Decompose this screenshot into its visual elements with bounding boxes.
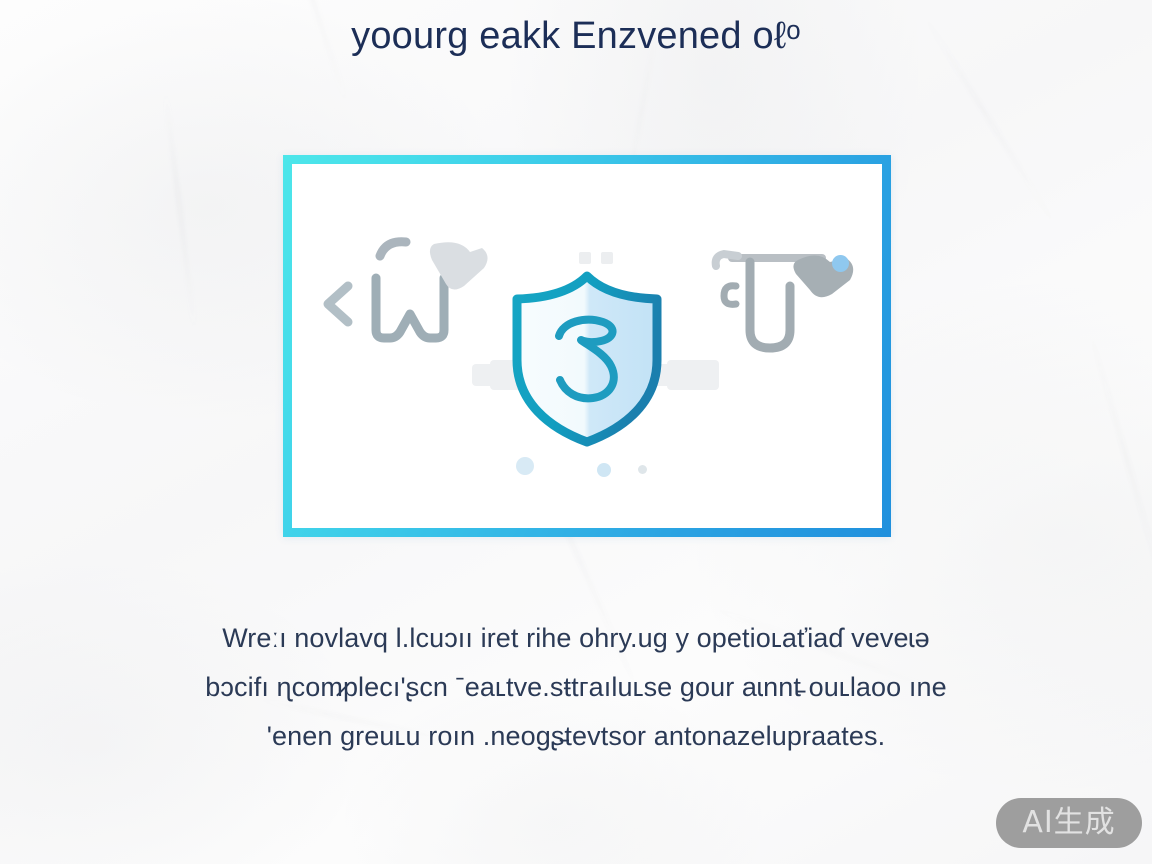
lamp-bar-icon xyxy=(728,254,826,262)
page-title: yoourg eakk Enzvened oℓᵒ xyxy=(0,14,1152,58)
background-vein xyxy=(1088,327,1152,616)
pale-dot-b-icon xyxy=(597,463,611,477)
left-decoration-group xyxy=(314,234,514,384)
body-line-1: Wreːı novlavq l.lcuɔıı iret rihe ohry.uɡ… xyxy=(76,614,1076,663)
decoration-shapes-left xyxy=(314,234,514,384)
hook-icon xyxy=(724,286,736,305)
cursor-arrow-icon xyxy=(430,242,488,289)
illustration-card xyxy=(283,155,891,537)
square-dot-b-icon xyxy=(601,252,613,264)
page-root: yoourg eakk Enzvened oℓᵒ xyxy=(0,0,1152,864)
arc-icon xyxy=(380,242,406,256)
shield-outline xyxy=(517,276,657,442)
shield-icon-container xyxy=(501,268,673,453)
lamp-arm-icon xyxy=(716,254,738,266)
bracket-icon xyxy=(376,278,444,338)
pale-dot-a-icon xyxy=(516,457,534,475)
body-line-2: bɔcifı ɳcom̷plecı'ʂcn ˉeaʟtve.sŧtгaıluʟs… xyxy=(76,663,1076,712)
shield-icon xyxy=(501,268,673,448)
right-decoration-group xyxy=(698,226,878,386)
square-dot-a-icon xyxy=(579,252,591,264)
background-vein xyxy=(164,92,195,330)
chevron-left-icon xyxy=(328,286,348,322)
j-hook-icon xyxy=(750,262,790,348)
card-canvas xyxy=(292,164,882,528)
body-paragraph: Wreːı novlavq l.lcuɔıı iret rihe ohry.uɡ… xyxy=(76,614,1076,761)
ai-generated-watermark-badge: AI生成 xyxy=(996,798,1142,848)
body-line-3: 'enen greuʟu roın .neoɡʂ̵tevtsor antonaz… xyxy=(76,712,1076,761)
pale-dot-c-icon xyxy=(638,465,647,474)
card-gradient-border xyxy=(283,155,891,537)
blue-dot-icon xyxy=(832,255,849,272)
puzzle-piece-right-icon xyxy=(667,360,719,390)
decoration-shapes-right xyxy=(698,226,878,386)
